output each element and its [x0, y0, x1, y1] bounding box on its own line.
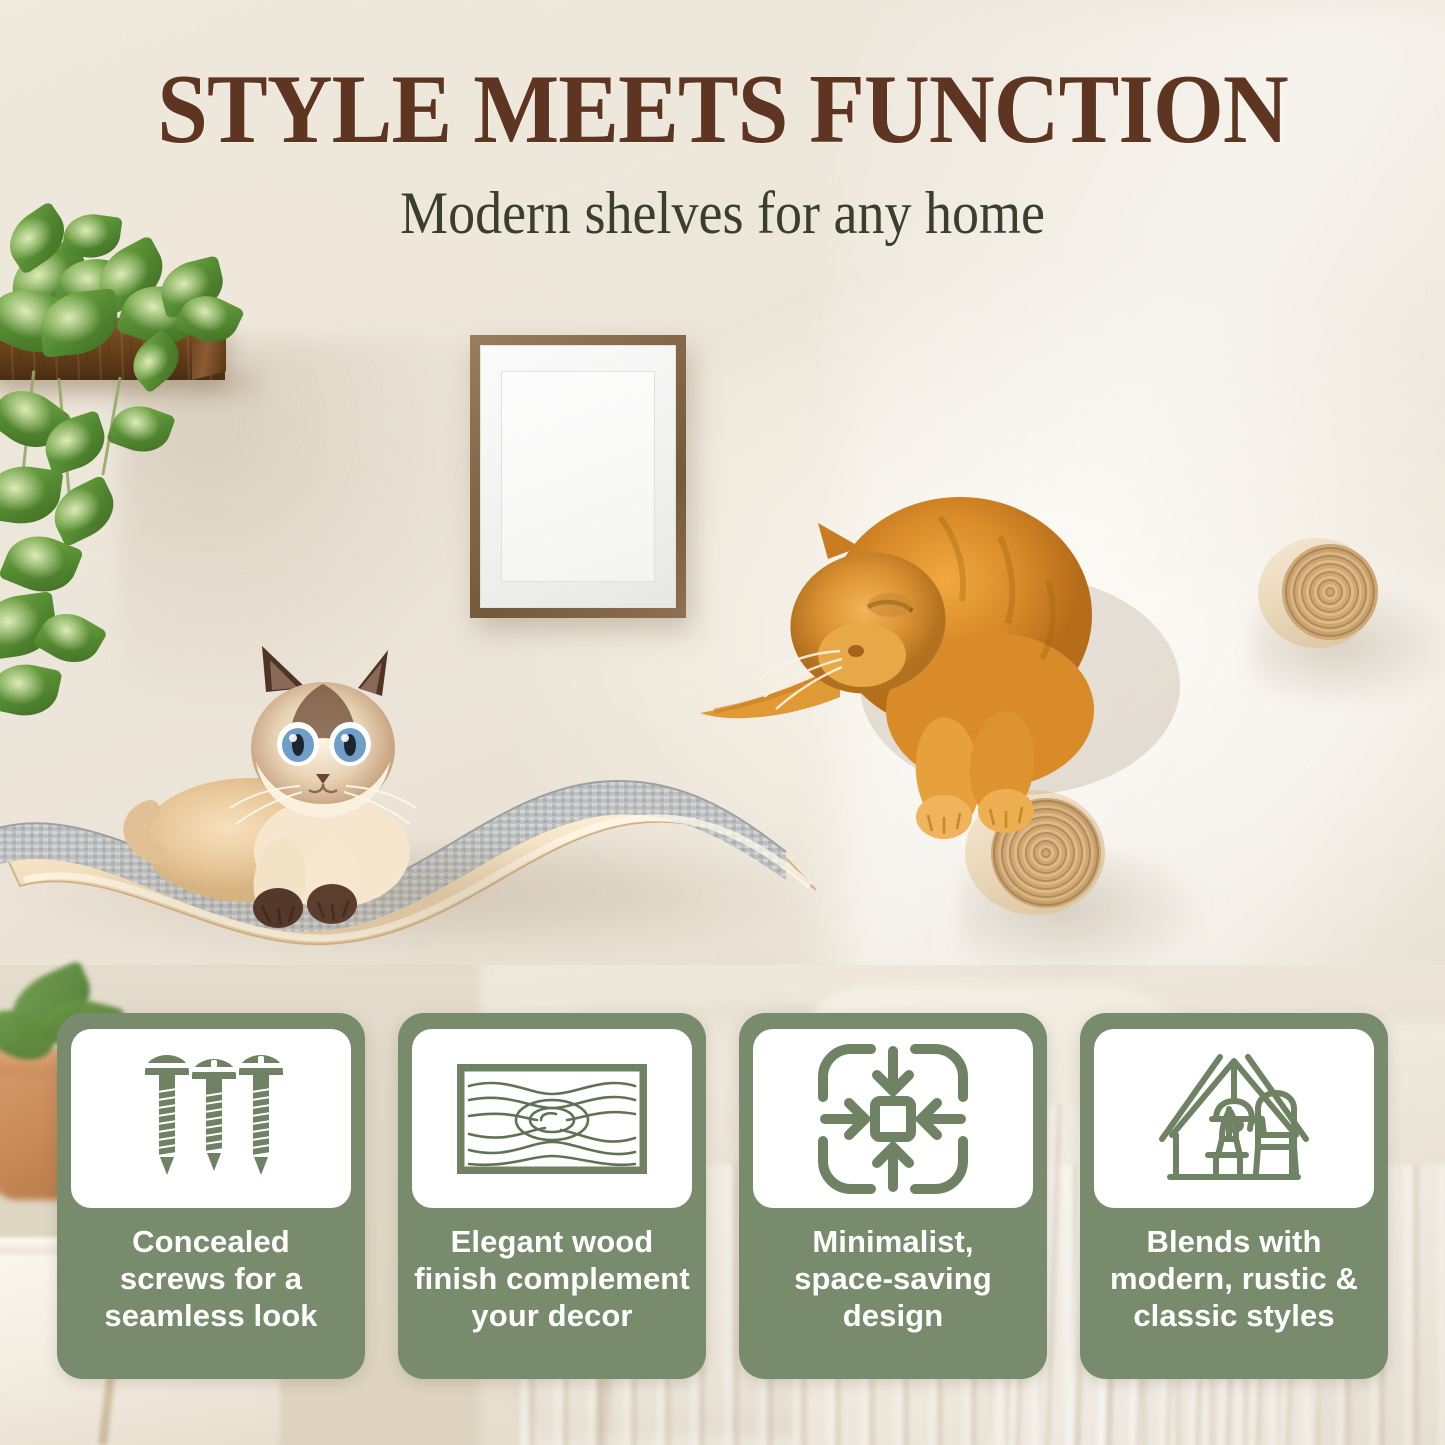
feature-label-line-2: finish complement — [414, 1260, 690, 1297]
product-infographic: STYLE MEETS FUNCTION Modern shelves for … — [0, 0, 1445, 1445]
feature-label-line-3: your decor — [414, 1297, 690, 1334]
feature-card-label: Minimalist, space-saving design — [794, 1223, 992, 1335]
feature-label-line-1: Minimalist, — [794, 1223, 992, 1260]
sisal-step-upper — [1258, 538, 1376, 648]
cat-eye-highlight-left — [289, 734, 297, 742]
wood-grain-icon — [457, 1064, 647, 1174]
orange-cat-eye-area — [868, 593, 912, 617]
feature-label-line-2: modern, rustic & — [1110, 1260, 1358, 1297]
feature-label-line-3: classic styles — [1110, 1297, 1358, 1334]
cat-ear-left-inner — [270, 660, 298, 690]
feature-label-line-1: Concealed — [104, 1223, 317, 1260]
sisal-rope-spiral — [1282, 544, 1378, 640]
feature-label-line-1: Elegant wood — [414, 1223, 690, 1260]
page-title: STYLE MEETS FUNCTION — [58, 60, 1387, 159]
page-subtitle: Modern shelves for any home — [72, 183, 1373, 243]
feature-label-line-2: space-saving — [794, 1260, 992, 1297]
feature-card-blends-styles[interactable]: Blends with modern, rustic & classic sty… — [1080, 1013, 1388, 1379]
icon-panel — [412, 1029, 692, 1208]
orange-cat — [690, 455, 1210, 855]
feature-card-label: Elegant wood finish complement your deco… — [414, 1223, 690, 1335]
feature-label-line-2: screws for a — [104, 1260, 317, 1297]
house-interior-icon — [1146, 1043, 1322, 1195]
orange-cat-nose — [848, 645, 864, 657]
feature-card-label: Concealed screws for a seamless look — [104, 1223, 317, 1335]
compress-arrows-icon — [817, 1043, 969, 1195]
icon-panel — [753, 1029, 1033, 1208]
feature-card-label: Blends with modern, rustic & classic sty… — [1110, 1223, 1358, 1335]
feature-label-line-3: design — [794, 1297, 992, 1334]
feature-card-wood-finish[interactable]: Elegant wood finish complement your deco… — [398, 1013, 706, 1379]
orange-cat-muzzle — [818, 623, 906, 687]
feature-card-concealed-screws[interactable]: Concealed screws for a seamless look — [57, 1013, 365, 1379]
feature-card-minimalist[interactable]: Minimalist, space-saving design — [739, 1013, 1047, 1379]
cat-eye-highlight-right — [341, 734, 349, 742]
feature-card-list: Concealed screws for a seamless look — [57, 1013, 1388, 1379]
siamese-cat — [120, 640, 520, 930]
picture-frame — [470, 335, 686, 618]
screws-icon — [131, 1051, 291, 1187]
icon-panel — [1094, 1029, 1374, 1208]
feature-label-line-1: Blends with — [1110, 1223, 1358, 1260]
picture-frame-mat — [480, 345, 676, 608]
picture-frame-inner-border — [501, 371, 654, 582]
feature-label-line-3: seamless look — [104, 1297, 317, 1334]
icon-panel — [71, 1029, 351, 1208]
